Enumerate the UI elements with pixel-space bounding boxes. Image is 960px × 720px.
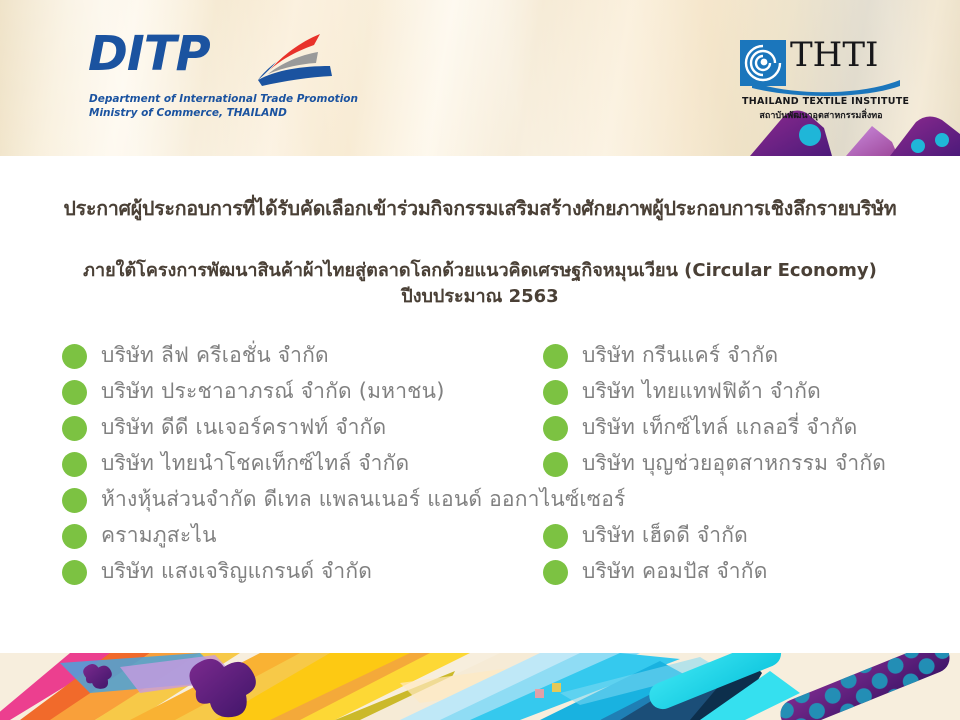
bullet-icon: [62, 344, 87, 369]
bullet-icon: [543, 560, 568, 585]
ditp-wordmark: DITP: [88, 30, 210, 78]
slide-root: DITP Department of International Trade P…: [0, 0, 960, 720]
thti-subtitle-th: สถาบันพัฒนาอุตสาหกรรมสิ่งทอ: [742, 108, 900, 122]
list-item: บริษัท ลีฟ ครีเอชั่น จำกัด: [62, 338, 542, 374]
bullet-icon: [62, 524, 87, 549]
bullet-icon: [62, 380, 87, 405]
company-list-left-column: บริษัท ลีฟ ครีเอชั่น จำกัด บริษัท ประชาอ…: [62, 338, 542, 590]
bullet-icon: [543, 344, 568, 369]
announcement-subtitle-line1: ภายใต้โครงการพัฒนาสินค้าผ้าไทยสู่ตลาดโลก…: [0, 258, 960, 284]
bullet-icon: [543, 416, 568, 441]
list-item-label: บริษัท เฮ็ดดี จำกัด: [582, 524, 748, 547]
list-item-label: บริษัท ประชาอาภรณ์ จำกัด (มหาชน): [101, 380, 445, 403]
bullet-icon: [62, 452, 87, 477]
ditp-logo: DITP Department of International Trade P…: [88, 30, 418, 135]
list-item-label: บริษัท ลีฟ ครีเอชั่น จำกัด: [101, 344, 329, 367]
list-item-label: บริษัท เท็กซ์ไทล์ แกลอรี่ จำกัด: [582, 416, 857, 439]
bullet-icon: [543, 380, 568, 405]
announcement-subtitle: ภายใต้โครงการพัฒนาสินค้าผ้าไทยสู่ตลาดโลก…: [0, 258, 960, 310]
bullet-icon: [62, 560, 87, 585]
bullet-icon: [62, 416, 87, 441]
thti-logo: THTI THAILAND TEXTILE INSTITUTE สถาบันพั…: [740, 40, 900, 130]
list-item: บริษัท แสงเจริญแกรนด์ จำกัด: [62, 554, 542, 590]
footer-decoration-band: [0, 653, 960, 720]
footer-decoration-shapes: [0, 653, 960, 720]
ditp-sail-icon: [226, 32, 338, 94]
list-item-label: บริษัท ดีดี เนเจอร์คราฟท์ จำกัด: [101, 416, 386, 439]
company-list-right-column: บริษัท กรีนแคร์ จำกัด บริษัท ไทยแทฟฟิต้า…: [543, 338, 953, 590]
announcement-subtitle-line2: ปีงบประมาณ 2563: [0, 284, 960, 310]
list-item: บริษัท ประชาอาภรณ์ จำกัด (มหาชน): [62, 374, 542, 410]
list-item-label: ครามภูสะไน: [101, 524, 217, 547]
bullet-icon: [543, 524, 568, 549]
ditp-subtitle-line1: Department of International Trade Promot…: [89, 92, 358, 106]
ditp-subtitle: Department of International Trade Promot…: [89, 92, 358, 120]
list-item-label: บริษัท คอมปัส จำกัด: [582, 560, 768, 583]
list-item: บริษัท กรีนแคร์ จำกัด: [543, 338, 953, 374]
list-item-label: บริษัท บุญช่วยอุตสาหกรรม จำกัด: [582, 452, 886, 475]
ditp-subtitle-line2: Ministry of Commerce, THAILAND: [89, 106, 358, 120]
thti-swoosh-icon: [752, 80, 900, 96]
list-item-label: บริษัท แสงเจริญแกรนด์ จำกัด: [101, 560, 372, 583]
list-item: บริษัท ไทยนำโชคเท็กซ์ไทล์ จำกัด: [62, 446, 542, 482]
bullet-icon: [543, 452, 568, 477]
thti-wordmark: THTI: [790, 38, 878, 72]
bullet-icon: [62, 488, 87, 513]
list-item: บริษัท เฮ็ดดี จำกัด: [543, 518, 953, 554]
list-item: บริษัท คอมปัส จำกัด: [543, 554, 953, 590]
list-item: บริษัท บุญช่วยอุตสาหกรรม จำกัด: [543, 446, 953, 482]
list-item: ห้างหุ้นส่วนจำกัด ดีเทล แพลนเนอร์ แอนด์ …: [62, 482, 542, 518]
list-item: บริษัท เท็กซ์ไทล์ แกลอรี่ จำกัด: [543, 410, 953, 446]
list-item-label: บริษัท ไทยนำโชคเท็กซ์ไทล์ จำกัด: [101, 452, 409, 475]
list-item: บริษัท ดีดี เนเจอร์คราฟท์ จำกัด: [62, 410, 542, 446]
announcement-title: ประกาศผู้ประกอบการที่ได้รับคัดเลือกเข้าร…: [0, 196, 960, 221]
list-item-label: บริษัท กรีนแคร์ จำกัด: [582, 344, 778, 367]
thti-subtitle-en: THAILAND TEXTILE INSTITUTE: [742, 96, 900, 107]
list-item-label: บริษัท ไทยแทฟฟิต้า จำกัด: [582, 380, 821, 403]
header-band: DITP Department of International Trade P…: [0, 0, 960, 156]
company-list: บริษัท ลีฟ ครีเอชั่น จำกัด บริษัท ประชาอ…: [0, 338, 960, 598]
list-item: บริษัท ไทยแทฟฟิต้า จำกัด: [543, 374, 953, 410]
list-item: ครามภูสะไน: [62, 518, 542, 554]
